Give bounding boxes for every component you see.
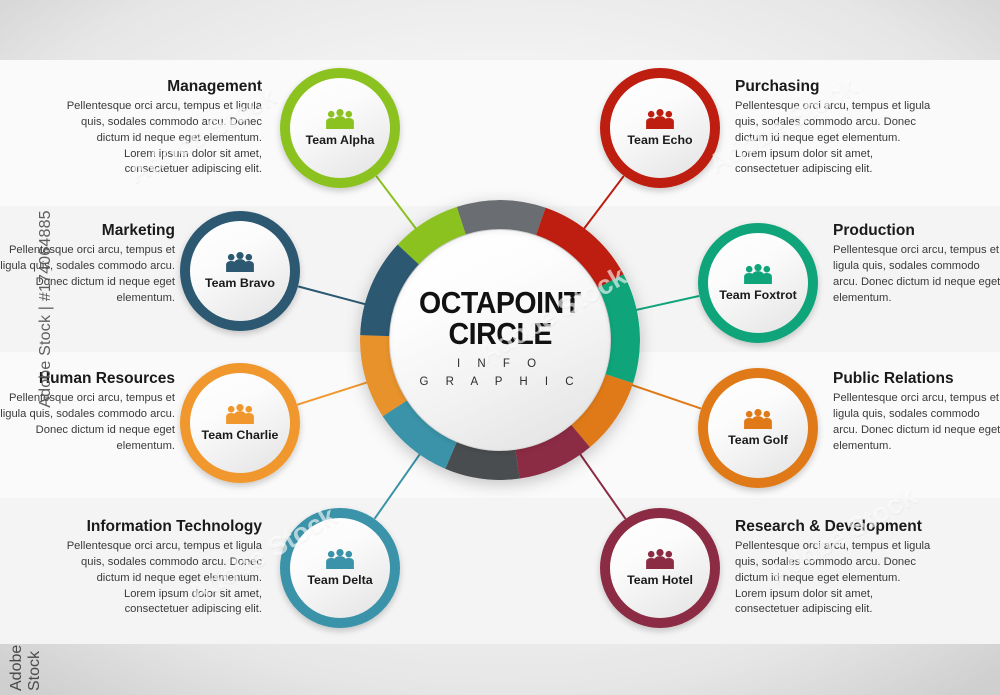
team-label: Team Echo (627, 133, 692, 147)
team-label: Team Hotel (627, 573, 693, 587)
connector-production (637, 296, 699, 310)
team-node-human-resources[interactable]: Team Charlie (180, 363, 300, 483)
people-group-icon (743, 264, 773, 285)
team-node-management[interactable]: Team Alpha (280, 68, 400, 188)
section-body: Pellentesque orci arcu, tempus et ligula… (833, 243, 1000, 307)
people-group-icon (325, 109, 355, 130)
watermark-bottom: Adobe Stock (8, 637, 44, 691)
section-body: Pellentesque orci arcu, tempus et ligula… (62, 99, 262, 179)
hub-title-line2: CIRCLE (448, 318, 551, 349)
central-hub: OCTAPOINT CIRCLE I N F O G R A P H I C (360, 200, 640, 480)
people-group-icon (743, 409, 773, 430)
section-text-public-relations: Public RelationsPellentesque orci arcu, … (833, 370, 1000, 454)
section-text-research-development: Research & DevelopmentPellentesque orci … (735, 518, 935, 618)
people-group-icon (325, 549, 355, 570)
section-body: Pellentesque orci arcu, tempus et ligula… (0, 391, 175, 455)
team-node-information-technology[interactable]: Team Delta (280, 508, 400, 628)
team-label: Team Foxtrot (719, 288, 797, 302)
hub-subtitle-line2: G R A P H I C (419, 374, 580, 392)
section-title: Purchasing (735, 78, 935, 96)
people-group-icon (225, 252, 255, 273)
section-body: Pellentesque orci arcu, tempus et ligula… (735, 99, 935, 179)
infographic-canvas: OCTAPOINT CIRCLE I N F O G R A P H I C T… (0, 0, 1000, 695)
section-title: Management (62, 78, 262, 96)
people-group-icon (645, 549, 675, 570)
hub-subtitle-line1: I N F O (457, 356, 543, 374)
connector-marketing (299, 287, 365, 304)
connector-public-relations (633, 385, 701, 408)
people-group-icon (225, 404, 255, 425)
team-label: Team Charlie (202, 428, 279, 442)
section-title: Human Resources (0, 370, 175, 388)
people-group-icon (325, 549, 355, 570)
people-group-icon (325, 109, 355, 130)
team-label: Team Bravo (205, 276, 275, 290)
connector-human-resources (298, 383, 367, 405)
people-group-icon (225, 404, 255, 425)
section-title: Production (833, 222, 1000, 240)
people-group-icon (645, 109, 675, 130)
section-body: Pellentesque orci arcu, tempus et ligula… (833, 391, 1000, 455)
section-title: Public Relations (833, 370, 1000, 388)
section-text-management: ManagementPellentesque orci arcu, tempus… (62, 78, 262, 178)
section-title: Research & Development (735, 518, 935, 536)
people-group-icon (743, 264, 773, 285)
section-text-marketing: MarketingPellentesque orci arcu, tempus … (0, 222, 175, 306)
people-group-icon (645, 109, 675, 130)
section-text-production: ProductionPellentesque orci arcu, tempus… (833, 222, 1000, 306)
section-title: Information Technology (62, 518, 262, 536)
team-node-purchasing[interactable]: Team Echo (600, 68, 720, 188)
people-group-icon (645, 549, 675, 570)
team-label: Team Delta (307, 573, 372, 587)
watermark-vertical: Adobe Stock | #174064885 (37, 179, 55, 439)
team-node-production[interactable]: Team Foxtrot (698, 223, 818, 343)
hub-title-line1: OCTAPOINT (419, 288, 581, 318)
section-body: Pellentesque orci arcu, tempus et ligula… (735, 539, 935, 619)
section-text-information-technology: Information TechnologyPellentesque orci … (62, 518, 262, 618)
team-label: Team Alpha (306, 133, 375, 147)
section-body: Pellentesque orci arcu, tempus et ligula… (62, 539, 262, 619)
section-title: Marketing (0, 222, 175, 240)
section-text-purchasing: PurchasingPellentesque orci arcu, tempus… (735, 78, 935, 178)
team-node-marketing[interactable]: Team Bravo (180, 211, 300, 331)
people-group-icon (225, 252, 255, 273)
team-label: Team Golf (728, 433, 788, 447)
people-group-icon (743, 409, 773, 430)
team-node-research-development[interactable]: Team Hotel (600, 508, 720, 628)
section-body: Pellentesque orci arcu, tempus et ligula… (0, 243, 175, 307)
team-node-public-relations[interactable]: Team Golf (698, 368, 818, 488)
hub-inner-disc: OCTAPOINT CIRCLE I N F O G R A P H I C (390, 230, 610, 450)
section-text-human-resources: Human ResourcesPellentesque orci arcu, t… (0, 370, 175, 454)
